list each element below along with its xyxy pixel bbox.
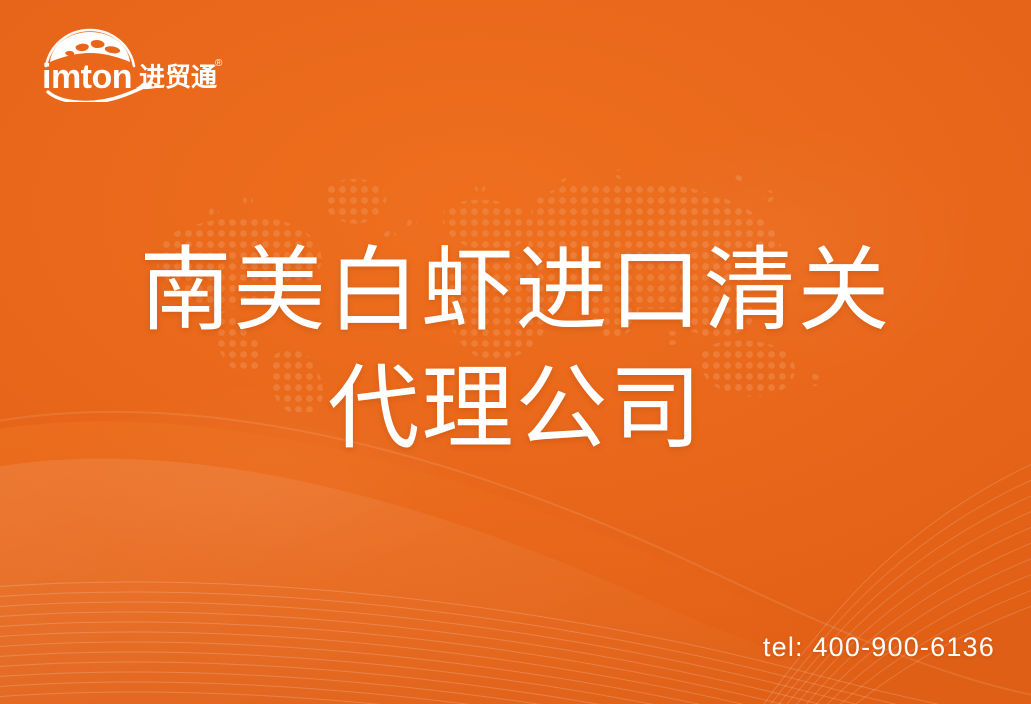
headline-line-1: 南美白虾进口清关 (0, 232, 1031, 350)
company-logo[interactable]: imton 进贸通 ® (36, 26, 226, 102)
headline-line-2: 代理公司 (0, 350, 1031, 468)
promo-banner: imton 进贸通 ® 南美白虾进口清关 代理公司 tel: 400-900-6… (0, 0, 1031, 704)
logo-wordmark: imton (42, 58, 132, 96)
contact-telephone: tel: 400-900-6136 (763, 632, 995, 663)
page-title: 南美白虾进口清关 代理公司 (0, 232, 1031, 468)
registered-mark-icon: ® (215, 58, 223, 69)
